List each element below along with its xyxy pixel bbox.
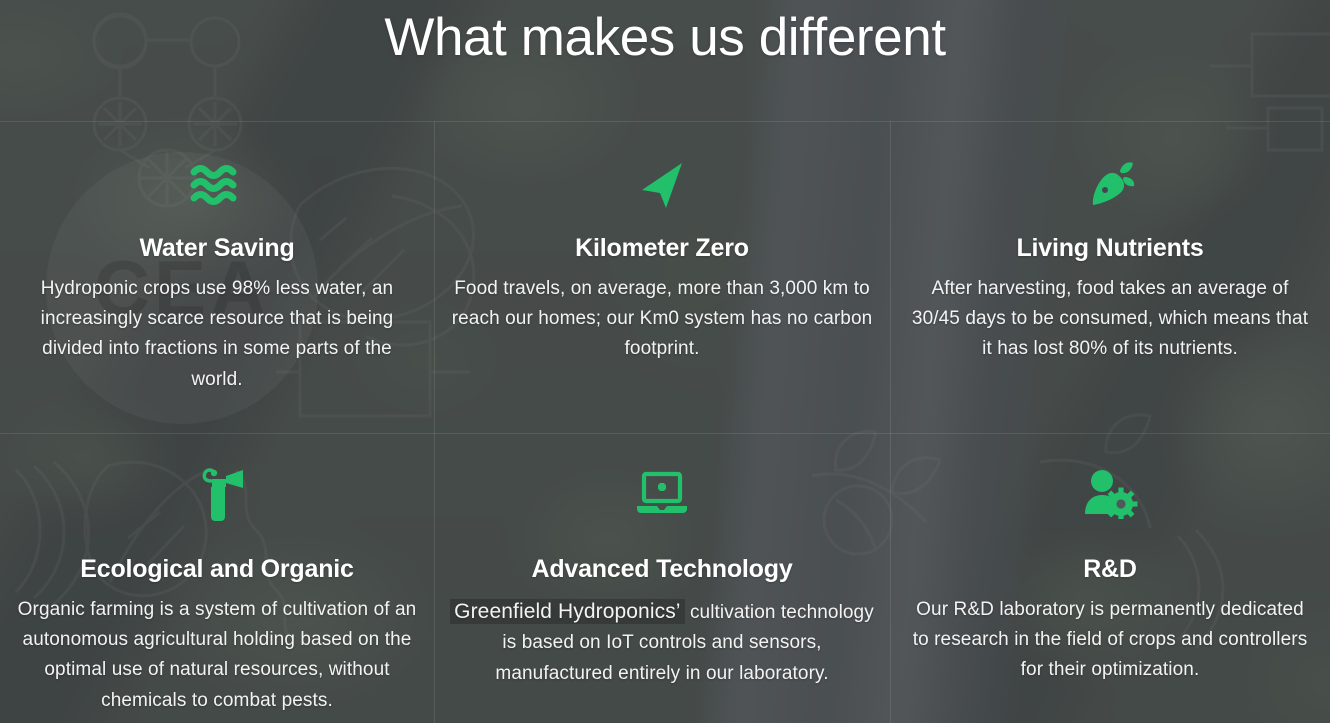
feature-card-rd[interactable]: R&D Our R&D laboratory is permanently de… xyxy=(890,433,1330,723)
feature-card-kilometer-zero[interactable]: Kilometer Zero Food travels, on average,… xyxy=(434,121,890,433)
feature-text: Organic farming is a system of cultivati… xyxy=(16,595,418,716)
feature-section: CEA What makes us different xyxy=(0,0,1330,723)
page-title: What makes us different xyxy=(0,8,1330,69)
user-gear-icon xyxy=(1082,466,1138,522)
features-grid: Water Saving Hydroponic crops use 98% le… xyxy=(0,121,1330,723)
feature-text: After harvesting, food takes an average … xyxy=(906,274,1314,365)
feature-title: Water Saving xyxy=(139,233,294,263)
feature-text: Greenfield Hydroponics’ cultivation tech… xyxy=(450,595,874,689)
feature-card-ecological-organic[interactable]: Ecological and Organic Organic farming i… xyxy=(0,433,434,723)
feature-text: Our R&D laboratory is permanently dedica… xyxy=(906,595,1314,686)
feature-text: Hydroponic crops use 98% less water, an … xyxy=(16,274,418,395)
feature-title: Kilometer Zero xyxy=(575,233,749,263)
feature-title: Advanced Technology xyxy=(531,554,792,584)
feature-card-living-nutrients[interactable]: Living Nutrients After harvesting, food … xyxy=(890,121,1330,433)
feature-title: Ecological and Organic xyxy=(80,554,353,584)
water-waves-icon xyxy=(189,157,245,213)
feature-card-advanced-technology[interactable]: Advanced Technology Greenfield Hydroponi… xyxy=(434,433,890,723)
feature-text: Food travels, on average, more than 3,00… xyxy=(450,274,874,365)
brand-name-highlight: Greenfield Hydroponics’ xyxy=(450,599,684,624)
navigation-arrow-icon xyxy=(636,157,688,213)
sprayer-icon xyxy=(189,466,245,522)
carrot-icon xyxy=(1084,157,1136,213)
feature-card-water-saving[interactable]: Water Saving Hydroponic crops use 98% le… xyxy=(0,121,434,433)
feature-title: Living Nutrients xyxy=(1016,233,1203,263)
laptop-plus-icon xyxy=(634,466,690,522)
feature-title: R&D xyxy=(1083,554,1137,584)
